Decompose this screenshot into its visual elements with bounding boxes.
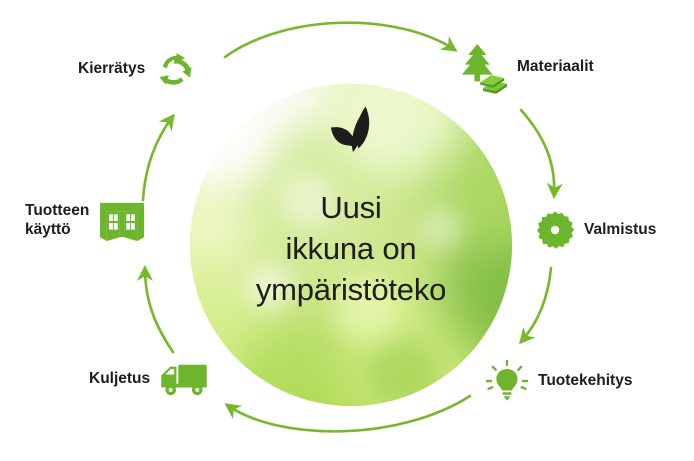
stage-tuotekehitys[interactable]: Tuotekehitys <box>485 359 632 403</box>
stage-label-materiaalit: Materiaalit <box>517 58 594 77</box>
arrow-valmistus-to-tuotekehitys <box>521 268 551 342</box>
stage-label-kierratys: Kierrätys <box>78 60 145 79</box>
center-headline: Uusi ikkuna on ympäristöteko <box>201 187 501 311</box>
two-leaves-icon <box>320 104 382 167</box>
arrow-kierratys-to-materiaalit <box>225 23 455 57</box>
stage-tuotteen-kaytto[interactable]: Tuotteen käyttö <box>25 199 146 243</box>
stage-kierratys[interactable]: Kierrätys <box>78 46 200 92</box>
stage-label-tuotteen-kaytto: Tuotteen käyttö <box>25 202 89 240</box>
headline-line-3: ympäristöteko <box>201 269 501 310</box>
tree-and-planks-icon <box>460 40 508 94</box>
saw-blade-icon <box>535 210 575 250</box>
open-window-icon <box>98 199 146 243</box>
center-content: Uusi ikkuna on ympäristöteko <box>190 84 512 406</box>
recycling-arrows-icon <box>154 46 200 92</box>
stage-kuljetus[interactable]: Kuljetus <box>89 361 209 397</box>
lifecycle-infographic: Uusi ikkuna on ympäristöteko Kierrätys <box>0 0 694 461</box>
stage-label-kuljetus: Kuljetus <box>89 370 150 389</box>
stage-label-valmistus: Valmistus <box>584 221 656 240</box>
headline-line-2: ikkuna on <box>201 228 501 269</box>
arrow-tuotteen-kaytto-to-kierratys <box>143 116 173 200</box>
stage-materiaalit[interactable]: Materiaalit <box>460 40 594 94</box>
stage-valmistus[interactable]: Valmistus <box>535 210 656 250</box>
headline-line-1: Uusi <box>201 187 501 228</box>
lightbulb-icon <box>485 359 529 403</box>
delivery-truck-icon <box>159 361 209 397</box>
arrow-kuljetus-to-tuotteen-kaytto <box>145 268 173 352</box>
arrow-materiaalit-to-valmistus <box>521 110 554 196</box>
stage-label-tuotekehitys: Tuotekehitys <box>538 372 632 391</box>
